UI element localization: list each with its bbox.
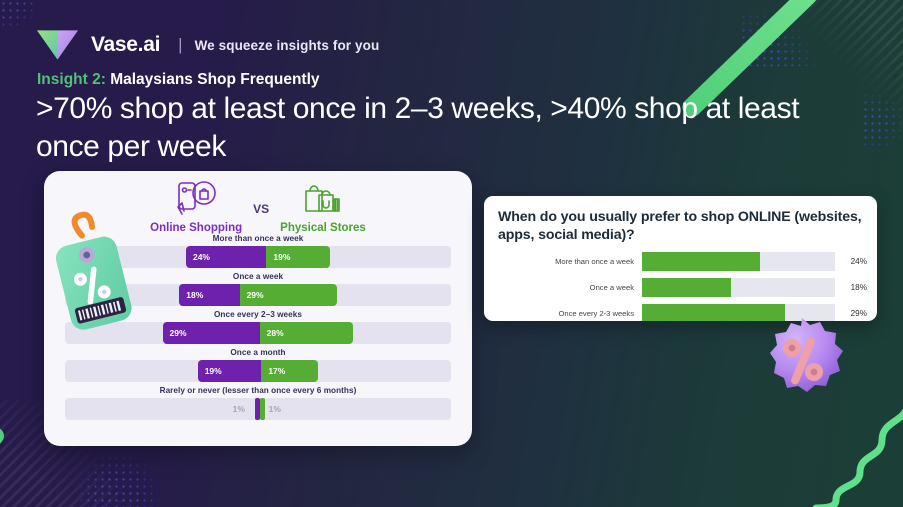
question-title: When do you usually prefer to shop ONLIN…	[498, 208, 863, 244]
bar-value-online: 1%	[233, 398, 245, 420]
brand-divider: |	[178, 35, 182, 55]
legend-label-physical: Physical Stores	[280, 222, 366, 234]
insight-kicker-label: Insight 2:	[37, 71, 106, 88]
bar-row-label: Once every 2-3 weeks	[494, 309, 642, 318]
page-title: >70% shop at least once in 2–3 weeks, >4…	[36, 90, 856, 167]
price-tag-3d-icon	[46, 210, 142, 345]
table-row: Once a week18%	[494, 277, 867, 297]
stacked-bar-row: Once a month19%17%	[44, 348, 472, 382]
insight-kicker-title: Malaysians Shop Frequently	[110, 71, 319, 88]
insight-kicker: Insight 2: Malaysians Shop Frequently	[37, 71, 320, 89]
legend-vs-label: VS	[253, 202, 269, 234]
green-squiggle-icon	[790, 400, 903, 507]
bar-segment-online: 19%	[198, 360, 262, 382]
brand-tagline: We squeeze insights for you	[195, 38, 380, 53]
bar-segment-online: 29%	[163, 322, 260, 344]
bar-row-label: More than once a week	[494, 257, 642, 266]
vase-logo-icon	[35, 28, 80, 62]
percent-badge-3d-icon	[756, 314, 848, 406]
bar-segment-physical: 28%	[260, 322, 354, 344]
bar-segment-online: 18%	[179, 284, 239, 306]
bar-value-label: 24%	[835, 257, 867, 266]
bar-track	[642, 278, 835, 297]
legend-item-online: Online Shopping	[150, 179, 242, 234]
bar-segment-online: 24%	[186, 246, 266, 268]
legend-label-online: Online Shopping	[150, 222, 242, 234]
bar-row-label: Rarely or never (lesser than once every …	[44, 386, 472, 395]
stacked-bar-row: Rarely or never (lesser than once every …	[44, 386, 472, 420]
dot-pattern-top-left-icon	[0, 0, 36, 28]
online-shopping-icon	[173, 179, 219, 219]
bar-track	[642, 252, 835, 271]
bar-row-label: Once a week	[494, 283, 642, 292]
bar-fill	[642, 278, 731, 297]
bar-segment-online	[255, 398, 260, 420]
brand-header: Vase.ai | We squeeze insights for you	[35, 28, 379, 62]
bar-segment-physical: 29%	[240, 284, 337, 306]
bar-spacer	[65, 398, 255, 420]
bar-segment-physical: 17%	[261, 360, 318, 382]
dot-pattern-top-right-icon	[740, 6, 824, 66]
dot-pattern-right-icon	[862, 92, 903, 152]
slide-canvas: Vase.ai | We squeeze insights for you In…	[0, 0, 903, 507]
bar-spacer	[65, 360, 198, 382]
brand-name: Vase.ai	[91, 33, 160, 57]
bar-rows: More than once a week24%Once a week18%On…	[494, 251, 867, 321]
bar-segment-physical: 19%	[266, 246, 330, 268]
bar-segment-physical	[260, 398, 265, 420]
bar-row-label: Once a month	[44, 348, 472, 357]
shop-online-frequency-card: When do you usually prefer to shop ONLIN…	[484, 196, 877, 321]
green-bar-bottom-left-icon	[0, 424, 7, 507]
bar-fill	[642, 252, 760, 271]
physical-store-icon	[301, 179, 345, 219]
bar-track: 1%1%	[65, 398, 451, 420]
bar-track: 19%17%	[65, 360, 451, 382]
dot-pattern-bottom-left-icon	[78, 455, 158, 507]
bar-value-physical: 1%	[269, 398, 281, 420]
table-row: More than once a week24%	[494, 251, 867, 271]
bar-value-label: 18%	[835, 283, 867, 292]
legend-item-physical: Physical Stores	[280, 179, 366, 234]
